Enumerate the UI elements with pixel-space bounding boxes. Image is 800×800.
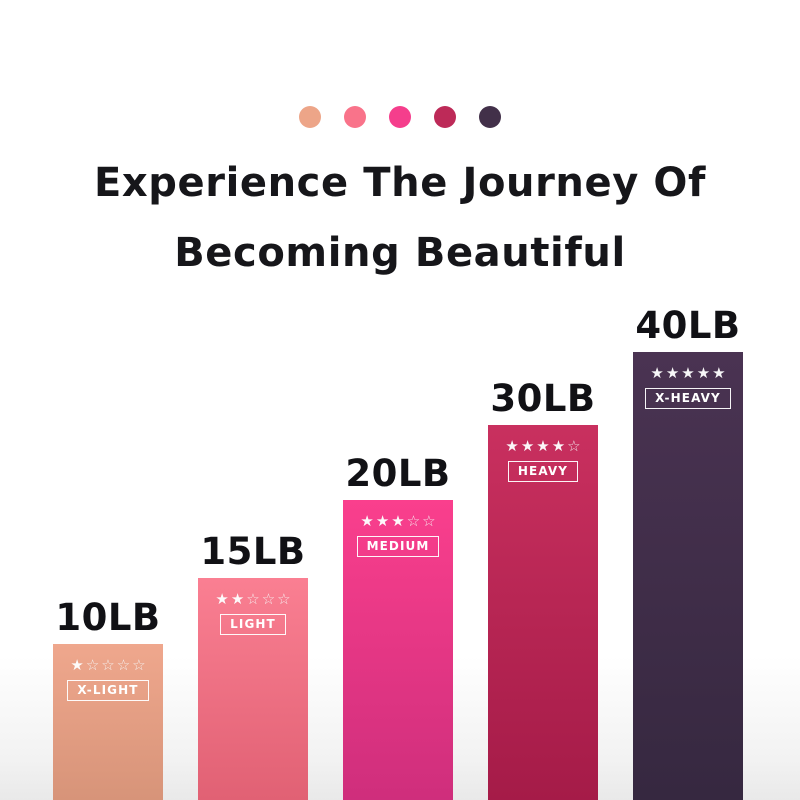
resistance-level-bar-chart: 10LB★☆☆☆☆X-LIGHT15LB★★☆☆☆LIGHT20LB★★★☆☆M… [0,0,800,800]
star-filled-icon: ★ [666,366,679,381]
bar-column: ★★★★★X-HEAVY [633,352,743,800]
level-badge: LIGHT [220,614,286,635]
bar-weight-label: 20LB [343,452,453,495]
star-empty-icon: ☆ [86,658,99,673]
bar-group-medium: 20LB★★★☆☆MEDIUM [343,500,453,800]
bar-content: ★★☆☆☆LIGHT [198,592,308,635]
rating-stars: ★★★☆☆ [360,514,435,529]
star-filled-icon: ★ [697,366,710,381]
star-filled-icon: ★ [536,439,549,454]
star-filled-icon: ★ [552,439,565,454]
bar-weight-label: 10LB [53,596,163,639]
level-badge: HEAVY [508,461,578,482]
star-filled-icon: ★ [712,366,725,381]
bar-content: ★★★★★X-HEAVY [633,366,743,409]
rating-stars: ★★★★☆ [505,439,580,454]
star-empty-icon: ☆ [101,658,114,673]
bar-column: ★☆☆☆☆X-LIGHT [53,644,163,800]
bar-weight-label: 15LB [198,530,308,573]
level-badge: MEDIUM [357,536,440,557]
star-filled-icon: ★ [391,514,404,529]
star-empty-icon: ☆ [407,514,420,529]
bar-weight-label: 40LB [633,304,743,347]
rating-stars: ★★★★★ [650,366,725,381]
level-badge: X-HEAVY [645,388,731,409]
bar-group-light: 15LB★★☆☆☆LIGHT [198,578,308,800]
resistance-band-infographic: Experience The Journey Of Becoming Beaut… [0,0,800,800]
star-empty-icon: ☆ [567,439,580,454]
star-filled-icon: ★ [505,439,518,454]
star-empty-icon: ☆ [117,658,130,673]
bar-group-x-light: 10LB★☆☆☆☆X-LIGHT [53,644,163,800]
bar-content: ★☆☆☆☆X-LIGHT [53,658,163,701]
star-filled-icon: ★ [681,366,694,381]
bar-group-x-heavy: 40LB★★★★★X-HEAVY [633,352,743,800]
star-filled-icon: ★ [70,658,83,673]
star-empty-icon: ☆ [132,658,145,673]
star-filled-icon: ★ [376,514,389,529]
bar-weight-label: 30LB [488,377,598,420]
star-empty-icon: ☆ [277,592,290,607]
bar-content: ★★★☆☆MEDIUM [343,514,453,557]
star-empty-icon: ☆ [246,592,259,607]
bar-column: ★★★☆☆MEDIUM [343,500,453,800]
star-empty-icon: ☆ [422,514,435,529]
bar-column: ★★★★☆HEAVY [488,425,598,800]
rating-stars: ★★☆☆☆ [215,592,290,607]
level-badge: X-LIGHT [67,680,148,701]
star-filled-icon: ★ [231,592,244,607]
rating-stars: ★☆☆☆☆ [70,658,145,673]
star-filled-icon: ★ [215,592,228,607]
bar-content: ★★★★☆HEAVY [488,439,598,482]
star-filled-icon: ★ [521,439,534,454]
star-filled-icon: ★ [360,514,373,529]
bar-group-heavy: 30LB★★★★☆HEAVY [488,425,598,800]
star-filled-icon: ★ [650,366,663,381]
star-empty-icon: ☆ [262,592,275,607]
bar-column: ★★☆☆☆LIGHT [198,578,308,800]
